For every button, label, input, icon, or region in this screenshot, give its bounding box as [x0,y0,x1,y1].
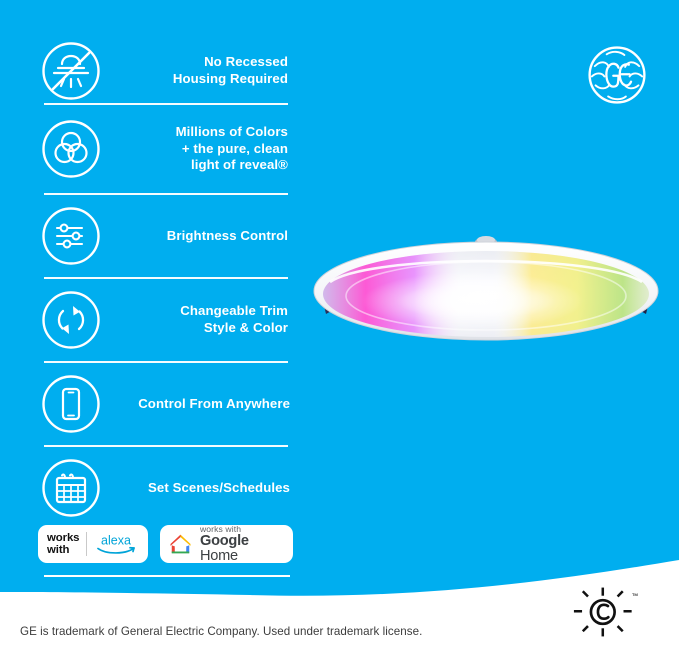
feature-list: No Recessed Housing Required Millions of… [36,38,290,529]
feature-row: Control From Anywhere [36,363,290,445]
google-word: Google [200,533,249,549]
feature-row: Set Scenes/Schedules [36,447,290,529]
feature-label: No Recessed Housing Required [102,54,290,88]
feature-label: Millions of Colors + the pure, clean lig… [102,124,290,175]
home-word: Home [200,548,238,564]
feature-row: Changeable Trim Style & Color [36,279,290,361]
badge-separator [86,532,87,556]
works-with-label: works with [200,525,284,534]
works-with-line1: works [47,532,79,544]
works-with-label: works with [47,532,79,557]
feature-row: Brightness Control [36,195,290,277]
google-home-house-icon [168,532,193,556]
partner-badges: works with alexa works with Google H [38,525,293,563]
ge-monogram-logo [580,38,654,112]
refresh-cycle-icon [40,289,102,351]
works-with-google-home-badge[interactable]: works with Google Home [160,525,293,563]
product-image-wafer-downlight [300,228,672,352]
trademark-symbol: ™ [632,593,639,600]
feature-row: Millions of Colors + the pure, clean lig… [36,105,290,193]
works-with-line2: with [47,544,79,556]
feature-label: Brightness Control [102,228,290,245]
cync-logo: ™ [568,586,642,638]
divider [44,575,290,577]
feature-label: Changeable Trim Style & Color [102,303,290,337]
brightness-slider-icon [40,205,102,267]
google-home-wordmark: Google Home [200,534,284,563]
feature-row: No Recessed Housing Required [36,38,290,103]
google-home-text: works with Google Home [200,525,284,564]
footer-trademark-note: GE is trademark of General Electric Comp… [20,625,422,638]
works-with-alexa-badge[interactable]: works with alexa [38,525,148,563]
feature-label: Control From Anywhere [86,396,290,413]
no-recessed-housing-icon [40,40,102,102]
product-feature-infographic: No Recessed Housing Required Millions of… [0,0,679,647]
amazon-smile-icon: alexa [93,531,139,557]
color-circles-icon [40,118,102,180]
alexa-wordmark: alexa [101,534,131,548]
feature-label: Set Scenes/Schedules [86,480,290,497]
